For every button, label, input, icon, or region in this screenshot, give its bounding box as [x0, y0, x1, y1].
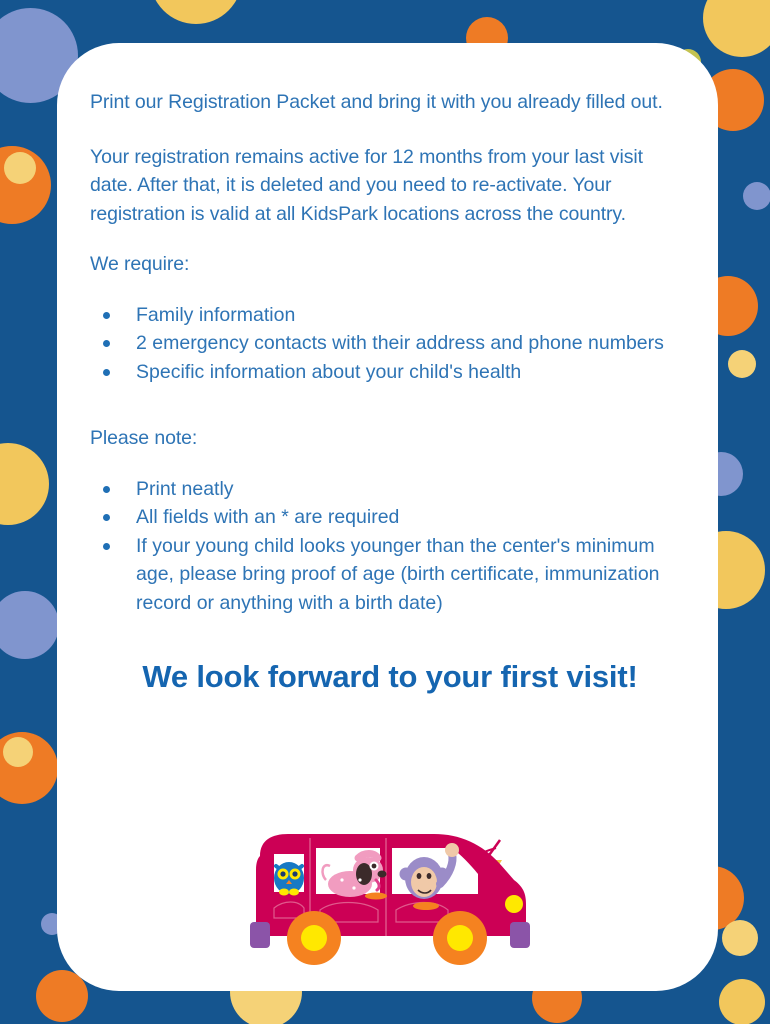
circle-periwinkle-left-a [0, 591, 59, 659]
card-content: Print our Registration Packet and bring … [90, 88, 690, 695]
list-item-label: If your young child looks younger than t… [136, 535, 660, 614]
bullet-icon [103, 514, 110, 521]
intro-paragraph-1: Print our Registration Packet and bring … [90, 88, 690, 117]
circle-periwinkle-right-a [743, 182, 770, 210]
require-list: Family information 2 emergency contacts … [90, 301, 690, 387]
list-item: If your young child looks younger than t… [90, 532, 690, 618]
circle-yellow-top-right [703, 0, 770, 57]
circle-pale-left-b [3, 737, 33, 767]
bullet-icon [103, 369, 110, 376]
list-item: Specific information about your child's … [90, 358, 690, 387]
list-item-label: Print neatly [136, 478, 234, 500]
note-list: Print neatly All fields with an * are re… [90, 475, 690, 618]
list-spacer [90, 386, 690, 424]
circle-yellow-top [150, 0, 242, 24]
list-item: Print neatly [90, 475, 690, 504]
bullet-icon [103, 486, 110, 493]
list-item-label: All fields with an * are required [136, 506, 399, 528]
list-item: All fields with an * are required [90, 503, 690, 532]
circle-yellow-bottom-right [719, 979, 765, 1024]
list-item: Family information [90, 301, 690, 330]
circle-yellow-left-a [0, 443, 49, 525]
note-heading: Please note: [90, 424, 690, 453]
page-headline: We look forward to your first visit! [90, 617, 690, 695]
content-card: Print our Registration Packet and bring … [57, 43, 718, 991]
circle-pale-left-a [4, 152, 36, 184]
van-illustration-wrapper: KP [57, 818, 718, 978]
bullet-icon [103, 340, 110, 347]
circle-pale-right-c [722, 920, 758, 956]
intro-paragraph-2: Your registration remains active for 12 … [90, 143, 690, 229]
list-item: 2 emergency contacts with their address … [90, 329, 690, 358]
flyer-page: Print our Registration Packet and bring … [0, 0, 770, 1024]
list-item-label: 2 emergency contacts with their address … [136, 332, 664, 354]
bullet-icon [103, 543, 110, 550]
bullet-icon [103, 312, 110, 319]
require-heading: We require: [90, 250, 690, 279]
circle-pale-right-a [728, 350, 756, 378]
list-item-label: Family information [136, 304, 295, 326]
kidspark-van-icon: KP [238, 818, 538, 978]
list-item-label: Specific information about your child's … [136, 361, 521, 383]
